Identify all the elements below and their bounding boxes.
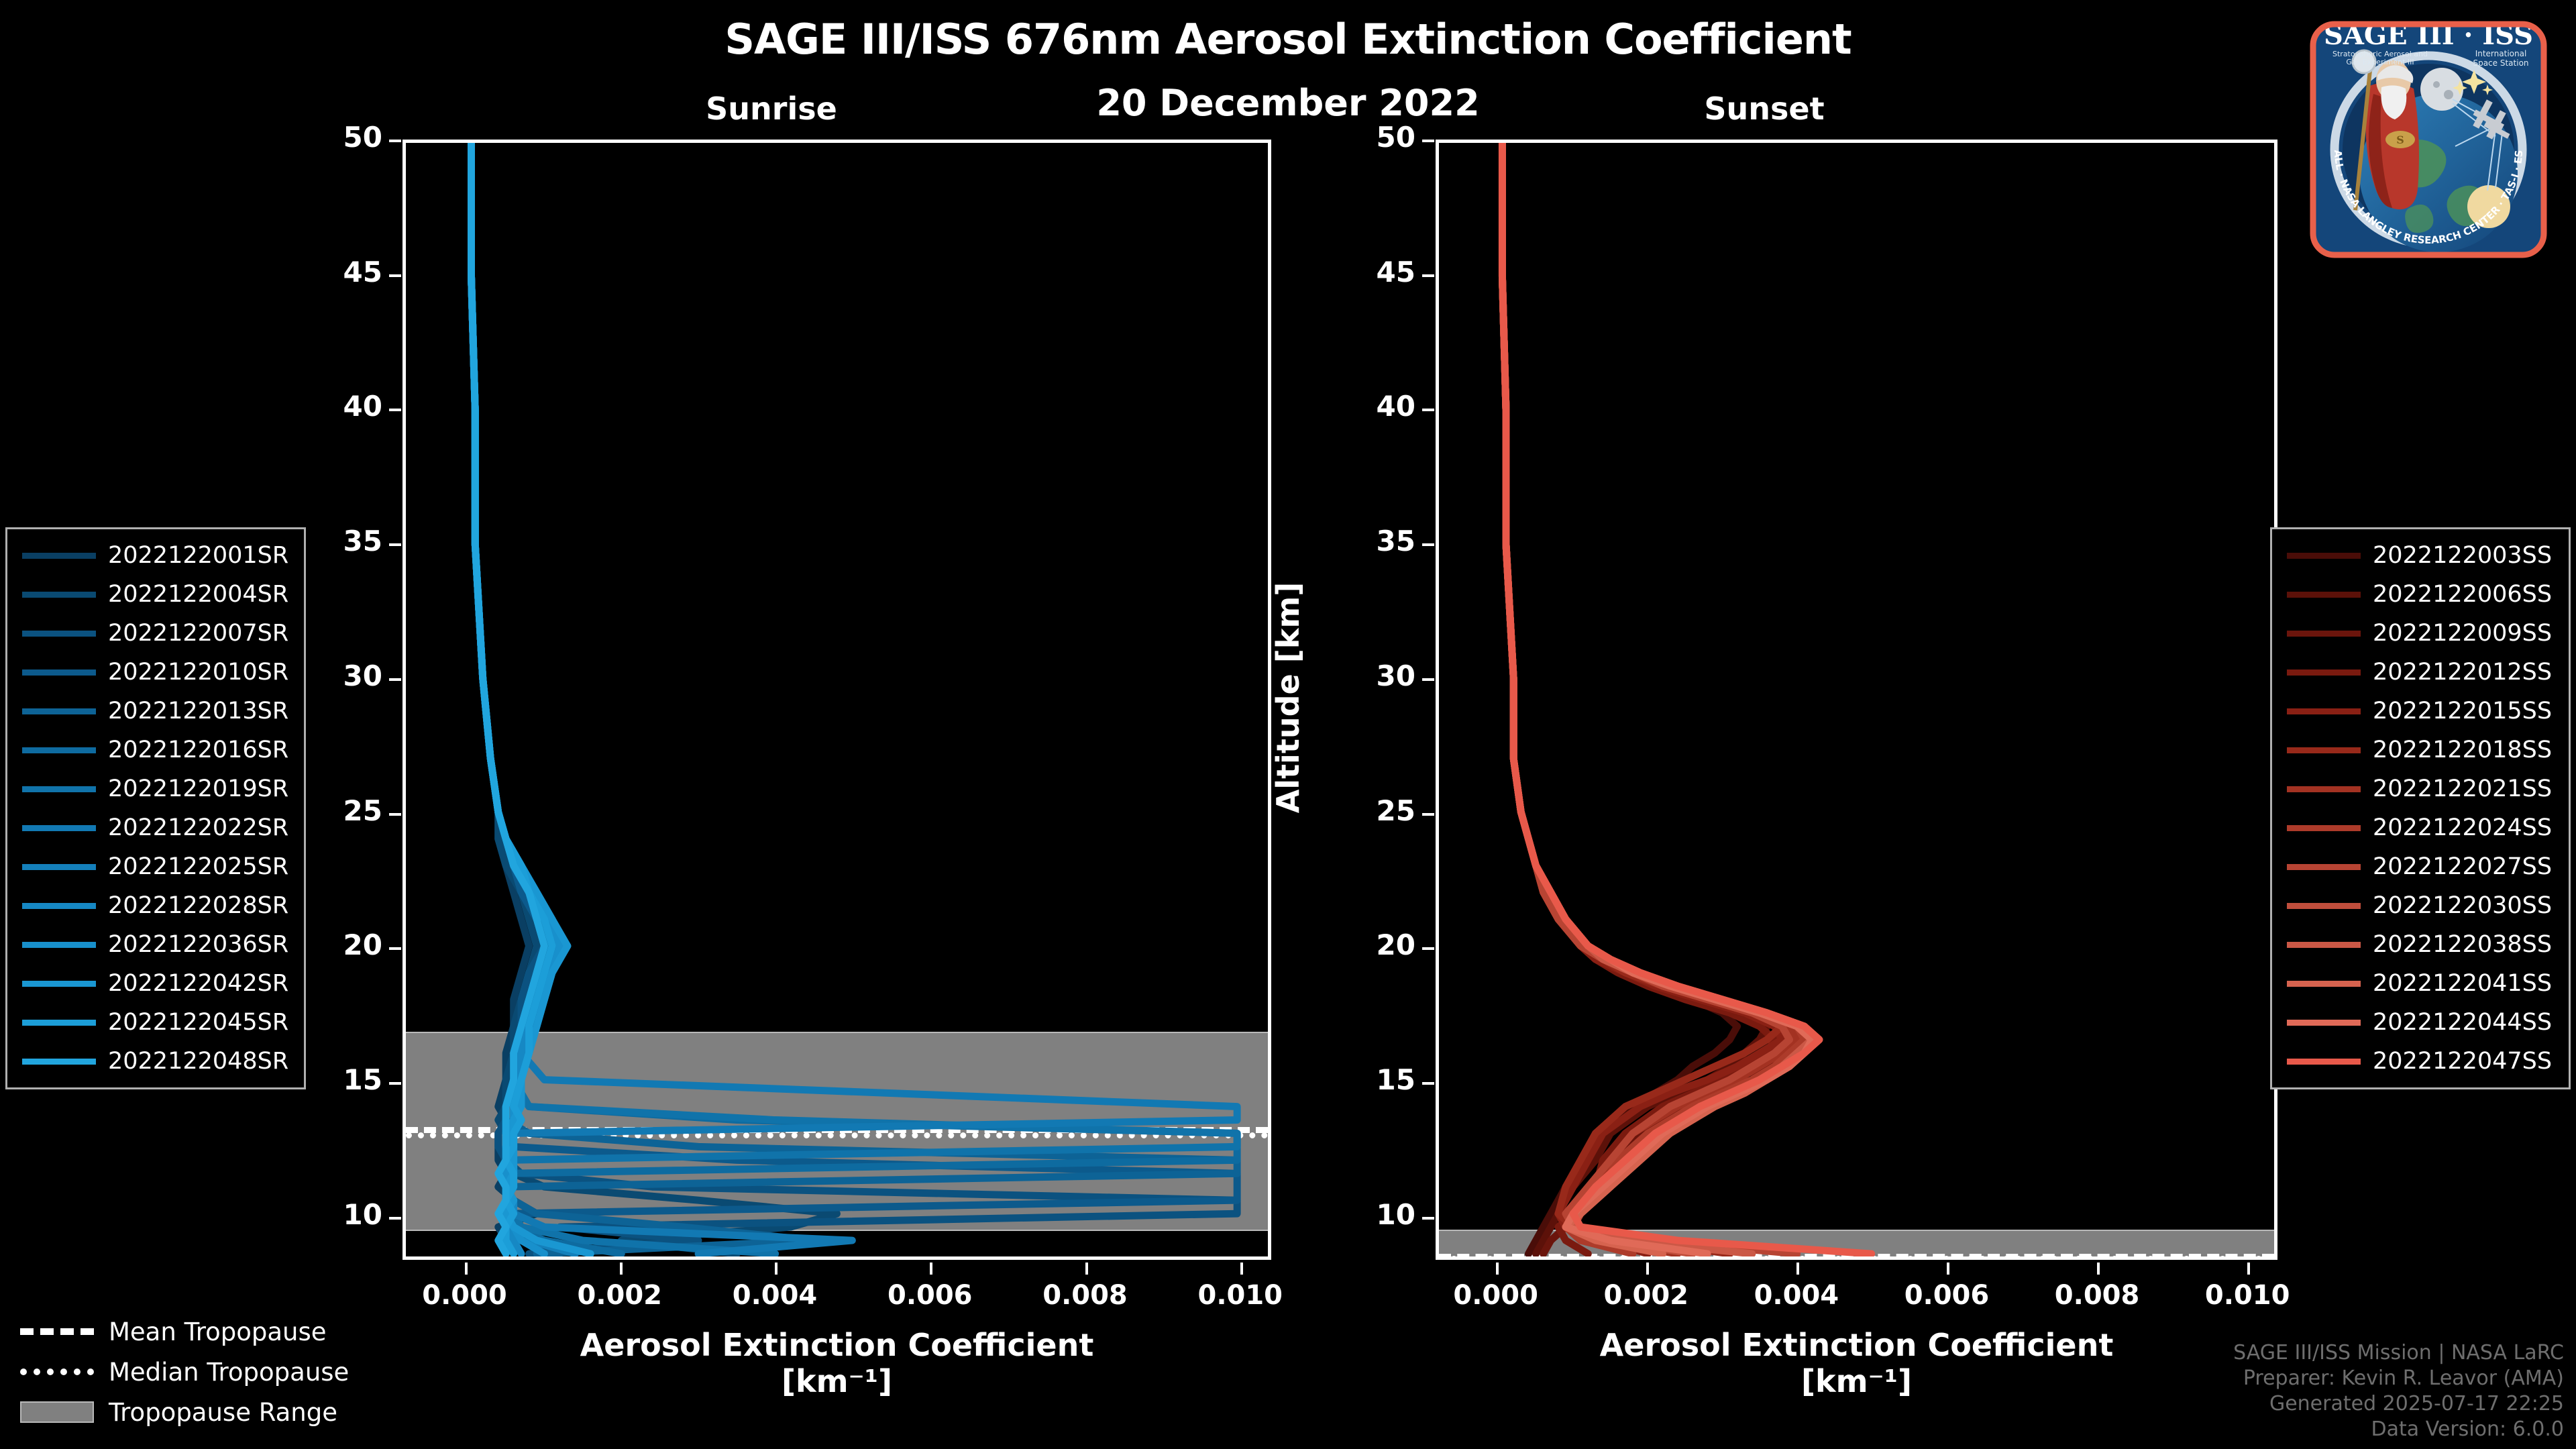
x-axis-tick-label: 0.008 (2030, 1280, 2164, 1311)
x-axis-tick-mark (2097, 1263, 2100, 1275)
y-axis-tick-label: 10 (295, 1198, 382, 1231)
legend-item-label: 2022122006SS (2373, 581, 2552, 608)
legend-color-swatch (2287, 903, 2361, 909)
x-axis-tick-label: 0.000 (1429, 1280, 1563, 1311)
x-axis-tick-mark (620, 1263, 623, 1275)
legend-item-label: 2022122010SR (108, 659, 288, 686)
x-axis-tick-label: 0.000 (398, 1280, 532, 1311)
legend-sunset-events[interactable]: 2022122003SS2022122006SS2022122009SS2022… (2270, 527, 2571, 1089)
legend-color-swatch (2287, 747, 2361, 753)
y-axis-tick-label: 40 (295, 390, 382, 423)
tropopause-legend-marker (20, 1368, 94, 1375)
page-title: SAGE III/ISS 676nm Aerosol Extinction Co… (0, 15, 2576, 64)
legend-color-swatch (22, 825, 96, 831)
legend-item-label: 2022122015SS (2373, 698, 2552, 724)
panel-subtitle-sunset: Sunset (1664, 91, 1865, 127)
x-axis-tick-mark (1496, 1263, 1499, 1275)
legend-color-swatch (2287, 553, 2361, 559)
y-axis-tick-label: 35 (1328, 525, 1415, 557)
profile-lines-sunrise (406, 143, 1268, 1256)
x-axis-tick-mark (465, 1263, 468, 1275)
legend-item-label: 2022122007SR (108, 620, 288, 647)
legend-color-swatch (22, 631, 96, 637)
y-axis-tick-mark (389, 140, 401, 142)
legend-item[interactable]: 2022122019SR (15, 769, 296, 808)
legend-color-swatch (2287, 786, 2361, 792)
x-axis-tick-label: 0.008 (1018, 1280, 1152, 1311)
profile-line (472, 143, 1238, 1254)
legend-item-label: 2022122012SS (2373, 659, 2552, 686)
y-axis-tick-mark (1422, 274, 1434, 277)
legend-item-label: 2022122045SR (108, 1009, 288, 1036)
legend-item[interactable]: 2022122018SS (2280, 731, 2561, 769)
x-axis-title-sunrise: Aerosol Extinction Coefficient[km⁻¹] (402, 1327, 1271, 1399)
profile-line (1502, 143, 1811, 1254)
legend-item[interactable]: 2022122028SR (15, 886, 296, 925)
y-axis-tick-label: 15 (1328, 1063, 1415, 1096)
x-axis-tick-label: 0.004 (1729, 1280, 1864, 1311)
legend-color-swatch (22, 747, 96, 753)
credits-line-mission: SAGE III/ISS Mission | NASA LaRC (2233, 1340, 2564, 1366)
legend-item[interactable]: 2022122042SR (15, 964, 296, 1003)
svg-text:Gas Experiment III: Gas Experiment III (2346, 58, 2414, 66)
y-axis-tick-label: 35 (295, 525, 382, 557)
tropopause-legend-label: Tropopause Range (109, 1398, 337, 1427)
tropopause-legend-item: Mean Tropopause (20, 1311, 369, 1352)
y-axis-tick-label: 25 (1328, 794, 1415, 827)
legend-item[interactable]: 2022122004SR (15, 575, 296, 614)
legend-color-swatch (2287, 825, 2361, 831)
legend-color-swatch (22, 1059, 96, 1065)
legend-item[interactable]: 2022122016SR (15, 731, 296, 769)
y-axis-tick-mark (389, 543, 401, 546)
legend-item[interactable]: 2022122007SR (15, 614, 296, 653)
legend-item-label: 2022122041SS (2373, 970, 2552, 997)
y-axis-tick-mark (389, 409, 401, 411)
y-axis-tick-mark (389, 274, 401, 277)
x-axis-tick-label: 0.010 (2180, 1280, 2314, 1311)
y-axis-tick-label: 15 (295, 1063, 382, 1096)
y-axis-tick-mark (1422, 678, 1434, 681)
profile-line (472, 143, 591, 1254)
x-axis-tick-label: 0.002 (1579, 1280, 1713, 1311)
y-axis-tick-mark (1422, 947, 1434, 950)
legend-color-swatch (22, 786, 96, 792)
profile-line (472, 143, 1238, 1254)
y-axis-tick-label: 45 (1328, 256, 1415, 288)
y-axis-tick-mark (1422, 409, 1434, 411)
svg-text:Space Station: Space Station (2473, 58, 2528, 68)
x-axis-tick-label: 0.006 (863, 1280, 997, 1311)
y-axis-tick-mark (389, 813, 401, 816)
legend-color-swatch (2287, 1059, 2361, 1065)
legend-item-label: 2022122038SS (2373, 931, 2552, 958)
legend-color-swatch (22, 1020, 96, 1026)
legend-item[interactable]: 2022122038SS (2280, 925, 2561, 964)
tropopause-legend-item: Median Tropopause (20, 1352, 369, 1392)
profile-line (472, 143, 1238, 1254)
legend-item-label: 2022122001SR (108, 542, 288, 569)
legend-item[interactable]: 2022122009SS (2280, 614, 2561, 653)
x-axis-tick-mark (1947, 1263, 1949, 1275)
y-axis-tick-label: 20 (295, 928, 382, 961)
profile-lines-sunset (1439, 143, 2274, 1256)
y-axis-tick-label: 45 (295, 256, 382, 288)
legend-item-label: 2022122030SS (2373, 892, 2552, 919)
legend-item[interactable]: 2022122041SS (2280, 964, 2561, 1003)
legend-item-label: 2022122003SS (2373, 542, 2552, 569)
legend-item-label: 2022122024SS (2373, 814, 2552, 841)
y-axis-tick-mark (389, 1217, 401, 1220)
tropopause-legend-marker (20, 1401, 94, 1423)
legend-item-label: 2022122047SS (2373, 1048, 2552, 1075)
y-axis-tick-mark (1422, 1217, 1434, 1220)
legend-item-label: 2022122028SR (108, 892, 288, 919)
profile-line (472, 143, 1238, 1254)
y-axis-tick-label: 20 (1328, 928, 1415, 961)
legend-item[interactable]: 2022122013SR (15, 692, 296, 731)
legend-item[interactable]: 2022122047SS (2280, 1042, 2561, 1081)
svg-text:International: International (2475, 49, 2527, 58)
credits-line-generated: Generated 2025-07-17 22:25 (2233, 1391, 2564, 1417)
y-axis-tick-label: 50 (295, 121, 382, 154)
legend-item[interactable]: 2022122044SS (2280, 1003, 2561, 1042)
legend-item[interactable]: 2022122021SS (2280, 769, 2561, 808)
legend-item-label: 2022122021SS (2373, 775, 2552, 802)
legend-color-swatch (2287, 631, 2361, 637)
x-axis-tick-mark (930, 1263, 932, 1275)
panel-subtitle-sunrise: Sunrise (671, 91, 872, 127)
legend-color-swatch (22, 708, 96, 714)
legend-color-swatch (2287, 981, 2361, 987)
legend-color-swatch (2287, 592, 2361, 598)
legend-item[interactable]: 2022122012SS (2280, 653, 2561, 692)
tropopause-legend-marker (20, 1328, 94, 1335)
figure-root: { "title": { "main": "SAGE III/ISS 676nm… (0, 0, 2576, 1449)
x-axis-tick-label: 0.010 (1173, 1280, 1307, 1311)
legend-item-label: 2022122018SS (2373, 737, 2552, 763)
legend-item-label: 2022122025SR (108, 853, 288, 880)
legend-item-label: 2022122048SR (108, 1048, 288, 1075)
legend-item[interactable]: 2022122003SS (2280, 536, 2561, 575)
credits-line-version: Data Version: 6.0.0 (2233, 1417, 2564, 1442)
legend-item[interactable]: 2022122006SS (2280, 575, 2561, 614)
x-axis-tick-mark (1646, 1263, 1649, 1275)
legend-item[interactable]: 2022122001SR (15, 536, 296, 575)
legend-color-swatch (2287, 942, 2361, 948)
legend-item[interactable]: 2022122030SS (2280, 886, 2561, 925)
x-axis-tick-mark (1796, 1263, 1799, 1275)
x-axis-tick-mark (1085, 1263, 1088, 1275)
legend-item[interactable]: 2022122045SR (15, 1003, 296, 1042)
legend-item-label: 2022122009SS (2373, 620, 2552, 647)
legend-color-swatch (2287, 1020, 2361, 1026)
legend-item[interactable]: 2022122036SR (15, 925, 296, 964)
profile-line (472, 143, 1238, 1254)
profile-line (472, 143, 545, 1254)
y-axis-tick-mark (1422, 543, 1434, 546)
date-title: 20 December 2022 (0, 82, 2576, 124)
legend-color-swatch (22, 669, 96, 676)
legend-color-swatch (22, 903, 96, 909)
plot-panel-sunrise (402, 140, 1271, 1260)
legend-color-swatch (22, 942, 96, 948)
legend-color-swatch (22, 981, 96, 987)
legend-sunrise-events[interactable]: 2022122001SR2022122004SR2022122007SR2022… (5, 527, 306, 1089)
y-axis-title-sunset: Altitude [km] (1270, 563, 1306, 832)
legend-item-label: 2022122022SR (108, 814, 288, 841)
y-axis-tick-label: 10 (1328, 1198, 1415, 1231)
x-axis-tick-label: 0.002 (553, 1280, 687, 1311)
legend-item-label: 2022122044SS (2373, 1009, 2552, 1036)
x-axis-tick-label: 0.006 (1880, 1280, 2014, 1311)
legend-color-swatch (2287, 669, 2361, 676)
tropopause-legend-label: Median Tropopause (109, 1358, 349, 1387)
legend-item-label: 2022122036SR (108, 931, 288, 958)
svg-text:S: S (2396, 133, 2404, 146)
legend-item-label: 2022122013SR (108, 698, 288, 724)
plot-panel-sunset (1436, 140, 2277, 1260)
y-axis-tick-mark (1422, 813, 1434, 816)
tropopause-legend-item: Tropopause Range (20, 1392, 369, 1432)
legend-color-swatch (22, 592, 96, 598)
legend-item[interactable]: 2022122024SS (2280, 808, 2561, 847)
legend-item-label: 2022122027SS (2373, 853, 2552, 880)
x-axis-tick-label: 0.004 (708, 1280, 842, 1311)
y-axis-tick-mark (1422, 140, 1434, 142)
legend-item[interactable]: 2022122015SS (2280, 692, 2561, 731)
y-axis-tick-label: 30 (295, 659, 382, 692)
legend-item-label: 2022122019SR (108, 775, 288, 802)
legend-item[interactable]: 2022122027SS (2280, 847, 2561, 886)
legend-item[interactable]: 2022122010SR (15, 653, 296, 692)
y-axis-tick-label: 25 (295, 794, 382, 827)
legend-color-swatch (22, 553, 96, 559)
x-axis-tick-mark (2247, 1263, 2250, 1275)
credits-block: SAGE III/ISS Mission | NASA LaRC Prepare… (2233, 1340, 2564, 1442)
legend-item[interactable]: 2022122025SR (15, 847, 296, 886)
y-axis-tick-label: 40 (1328, 390, 1415, 423)
y-axis-tick-mark (1422, 1082, 1434, 1085)
y-axis-tick-mark (389, 947, 401, 950)
profile-line (472, 143, 1238, 1254)
legend-item-label: 2022122004SR (108, 581, 288, 608)
legend-item[interactable]: 2022122022SR (15, 808, 296, 847)
credits-line-preparer: Preparer: Kevin R. Leavor (AMA) (2233, 1366, 2564, 1391)
x-axis-title-sunset: Aerosol Extinction Coefficient[km⁻¹] (1436, 1327, 2277, 1399)
tropopause-legend-label: Mean Tropopause (109, 1318, 327, 1346)
legend-item-label: 2022122016SR (108, 737, 288, 763)
legend-item[interactable]: 2022122048SR (15, 1042, 296, 1081)
profile-line (1502, 143, 1811, 1254)
sage-iii-iss-logo: S SAGE III · ISS Stratospheric Aerosol a… (2294, 5, 2563, 274)
profile-line (1502, 143, 1811, 1254)
legend-color-swatch (2287, 864, 2361, 870)
y-axis-tick-label: 50 (1328, 121, 1415, 154)
y-axis-tick-label: 30 (1328, 659, 1415, 692)
y-axis-tick-mark (389, 678, 401, 681)
y-axis-tick-mark (389, 1082, 401, 1085)
legend-color-swatch (2287, 708, 2361, 714)
legend-color-swatch (22, 864, 96, 870)
legend-item-label: 2022122042SR (108, 970, 288, 997)
x-axis-tick-mark (775, 1263, 777, 1275)
legend-tropopause: Mean TropopauseMedian TropopauseTropopau… (20, 1311, 369, 1432)
x-axis-tick-mark (1240, 1263, 1243, 1275)
